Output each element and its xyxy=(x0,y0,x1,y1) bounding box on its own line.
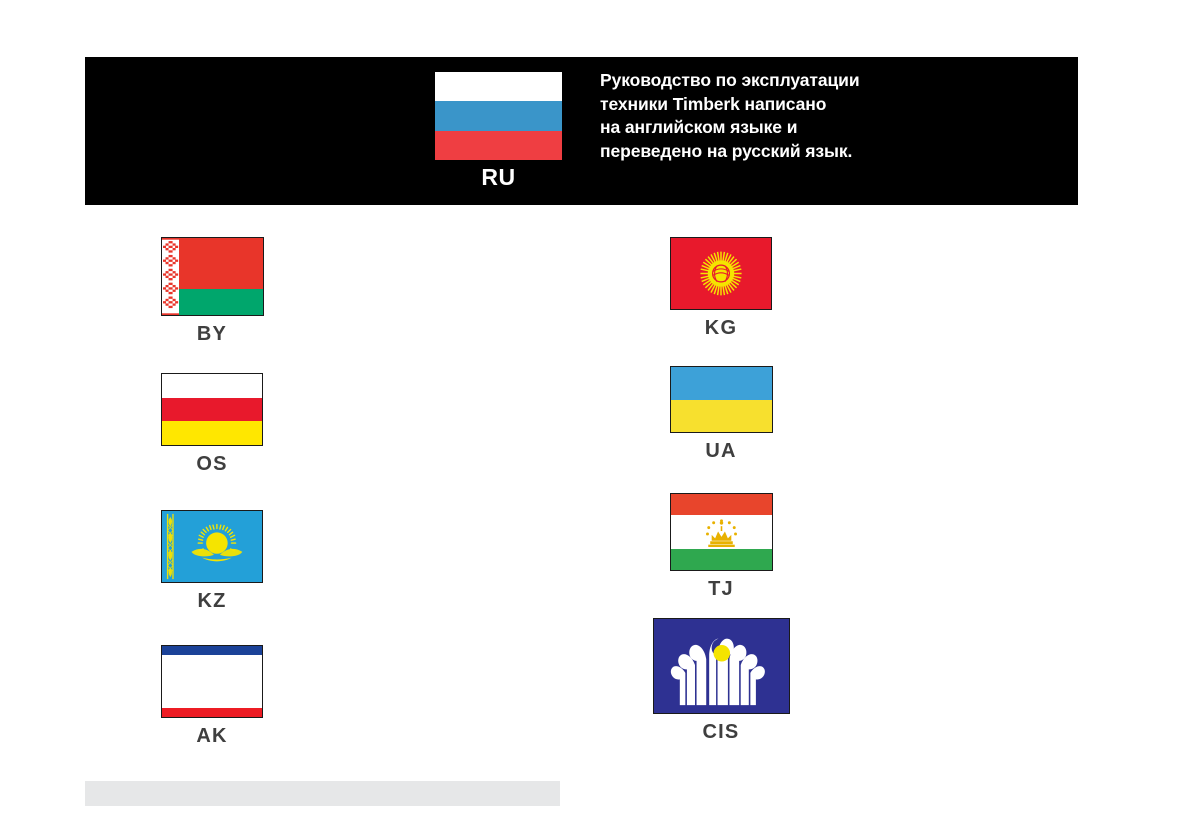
flag-cell-kg[interactable]: KG xyxy=(616,237,826,338)
crimea-stripe-blue xyxy=(162,646,262,655)
header-flag-block: RU xyxy=(435,72,562,189)
flag-label-kz: KZ xyxy=(107,591,317,611)
russia-flag-stripe-blue xyxy=(435,101,562,130)
belarus-ornament-icon xyxy=(162,238,179,315)
flag-label-os: OS xyxy=(107,454,317,474)
flag-cell-tj[interactable]: TJ xyxy=(616,493,826,599)
flag-cell-kz[interactable]: KZ xyxy=(107,510,317,611)
flag-cell-os[interactable]: OS xyxy=(107,373,317,474)
tajikistan-crown-stars-icon xyxy=(671,494,772,570)
crimea-stripe-white xyxy=(162,655,262,708)
russia-flag-stripe-white xyxy=(435,72,562,101)
crimea-stripe-red xyxy=(162,708,262,717)
flag-label-tj: TJ xyxy=(616,579,826,599)
flag-cell-ua[interactable]: UA xyxy=(616,366,826,461)
tajikistan-flag-icon xyxy=(670,493,773,571)
belarus-ornament-band xyxy=(162,238,179,315)
kazakhstan-flag-icon xyxy=(161,510,263,583)
flag-label-kg: KG xyxy=(616,318,826,338)
header-notice-line-3: на английском языке и xyxy=(600,116,1020,140)
header-notice-text: Руководство по эксплуатации техники Timb… xyxy=(600,69,1020,163)
flag-cell-by[interactable]: BY xyxy=(107,237,317,344)
header-notice-line-2: техники Timberk написано xyxy=(600,93,1020,117)
flag-label-ua: UA xyxy=(616,441,826,461)
header-notice-line-1: Руководство по эксплуатации xyxy=(600,69,1020,93)
south-ossetia-stripe-yellow xyxy=(162,421,262,445)
header-banner: RU Руководство по эксплуатации техники T… xyxy=(85,57,1078,205)
belarus-flag-icon xyxy=(161,237,264,316)
header-notice-line-4: переведено на русский язык. xyxy=(600,140,1020,164)
south-ossetia-flag-icon xyxy=(161,373,263,446)
flag-label-cis: CIS xyxy=(616,722,826,742)
ukraine-flag-icon xyxy=(670,366,773,433)
footer-bar xyxy=(85,781,560,806)
kazakhstan-emblem-icon xyxy=(162,511,262,582)
south-ossetia-stripe-white xyxy=(162,374,262,398)
ukraine-stripe-yellow xyxy=(671,400,772,433)
kyrgyzstan-flag-icon xyxy=(670,237,772,310)
russia-flag-icon xyxy=(435,72,562,160)
cis-emblem-icon xyxy=(654,619,789,713)
kyrgyzstan-sun-icon xyxy=(671,238,771,309)
crimea-flag-icon xyxy=(161,645,263,718)
russia-flag-stripe-red xyxy=(435,131,562,160)
south-ossetia-stripe-red xyxy=(162,398,262,422)
cis-flag-icon xyxy=(653,618,790,714)
flag-cell-cis[interactable]: CIS xyxy=(616,618,826,742)
flag-cell-ak[interactable]: AK xyxy=(107,645,317,746)
russia-flag-label: RU xyxy=(435,166,562,189)
flag-label-ak: AK xyxy=(107,726,317,746)
ukraine-stripe-blue xyxy=(671,367,772,400)
flag-label-by: BY xyxy=(107,324,317,344)
